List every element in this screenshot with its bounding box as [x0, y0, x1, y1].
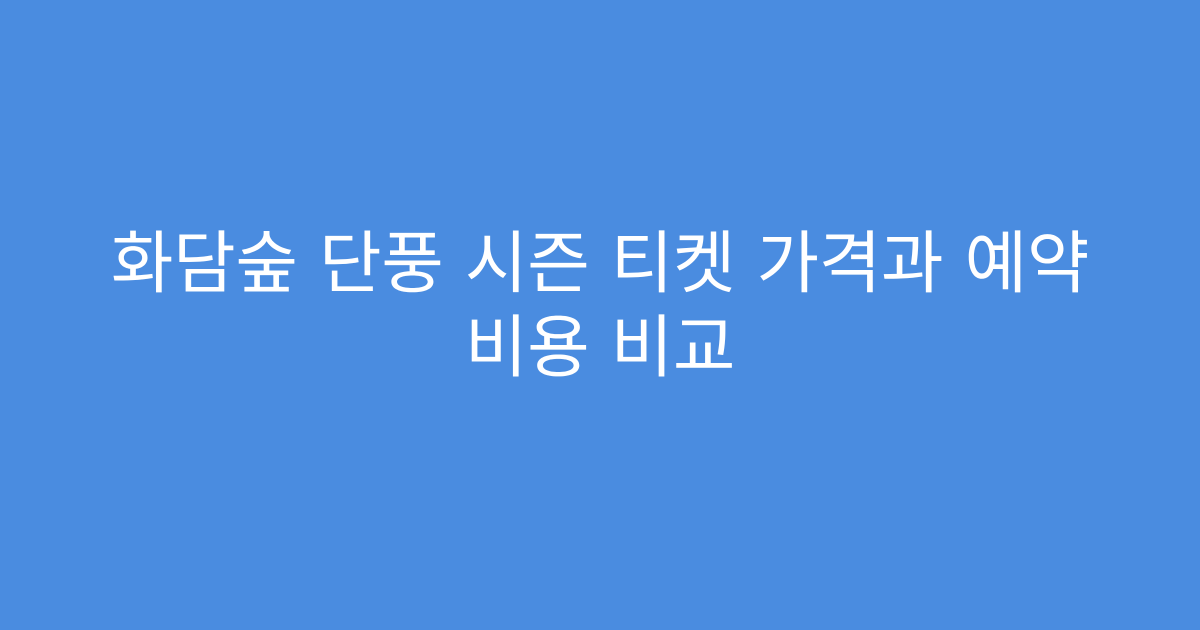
og-thumbnail-card: 화담숲 단풍 시즌 티켓 가격과 예약 비용 비교	[0, 0, 1200, 630]
page-title: 화담숲 단풍 시즌 티켓 가격과 예약 비용 비교	[103, 223, 1097, 392]
title-block: 화담숲 단풍 시즌 티켓 가격과 예약 비용 비교	[95, 231, 1105, 400]
